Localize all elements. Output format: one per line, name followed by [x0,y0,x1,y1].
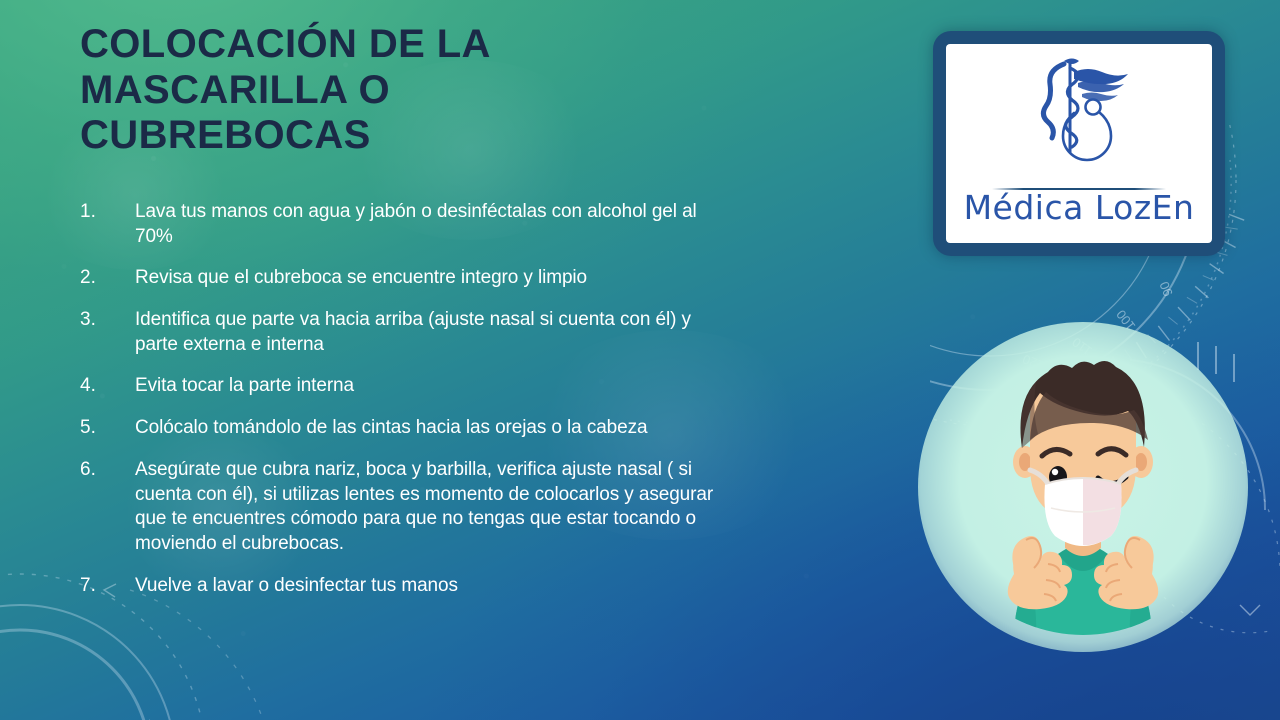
list-item-text: Evita tocar la parte interna [135,374,720,399]
list-item-number: 6. [80,458,135,483]
list-item-text: Asegúrate que cubra nariz, boca y barbil… [135,458,720,557]
list-item-number: 7. [80,574,135,599]
list-item: 1. Lava tus manos con agua y jabón o des… [80,200,720,249]
list-item: 2. Revisa que el cubreboca se encuentre … [80,266,720,291]
illustration-boy-with-mask [918,322,1248,652]
list-item-number: 4. [80,374,135,399]
list-item-text: Identifica que parte va hacia arriba (aj… [135,308,720,357]
list-item: 5. Colócalo tomándolo de las cintas haci… [80,416,720,441]
boy-with-mask-thumbs-up-icon [918,322,1248,652]
list-item: 7. Vuelve a lavar o desinfectar tus mano… [80,574,720,599]
list-item: 6. Asegúrate que cubra nariz, boca y bar… [80,458,720,557]
list-item: 3. Identifica que parte va hacia arriba … [80,308,720,357]
logo-card: Médica LozEn [933,31,1225,256]
logo-wordmark: Médica LozEn [964,191,1195,224]
slide-canvas: 120 110 100 90 80 [0,0,1280,720]
steps-list: 1. Lava tus manos con agua y jabón o des… [80,200,720,615]
list-item-number: 3. [80,308,135,333]
list-item-text: Lava tus manos con agua y jabón o desinf… [135,200,720,249]
list-item-number: 1. [80,200,135,225]
list-item: 4. Evita tocar la parte interna [80,374,720,399]
caduceus-with-wing-icon [1004,52,1154,185]
list-item-text: Colócalo tomándolo de las cintas hacia l… [135,416,720,441]
slide-title: COLOCACIÓN DE LA MASCARILLA O CUBREBOCAS [80,22,680,159]
list-item-text: Revisa que el cubreboca se encuentre int… [135,266,720,291]
list-item-number: 5. [80,416,135,441]
logo-inner-panel: Médica LozEn [946,44,1212,243]
list-item-number: 2. [80,266,135,291]
list-item-text: Vuelve a lavar o desinfectar tus manos [135,574,720,599]
